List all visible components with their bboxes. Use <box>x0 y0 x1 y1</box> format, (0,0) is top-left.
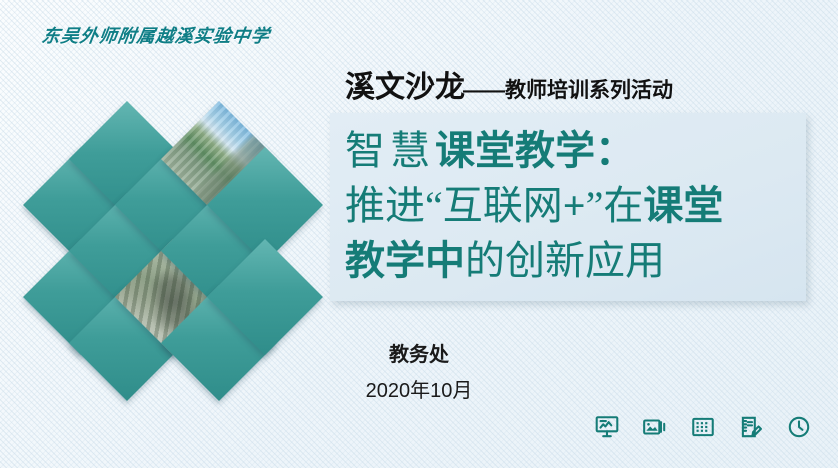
title-line-1-part-1: 智慧 <box>345 128 435 173</box>
title-line-3-part-1: 教学中 <box>345 238 465 283</box>
series-subtitle: 溪文沙龙 ——教师培训系列活动 <box>345 62 673 106</box>
title-line-2-part-3: ”在 <box>586 183 644 228</box>
title-line-2-part-2: + <box>563 183 586 228</box>
title-line-2-part-1: 推进“互联网 <box>345 183 563 228</box>
title-line-3: 教学中的创新应用 <box>345 233 815 288</box>
presentation-board-icon <box>594 414 620 440</box>
title-line-1: 智慧课堂教学： <box>345 123 815 178</box>
series-subtitle-main: 溪文沙龙 <box>345 62 465 106</box>
series-subtitle-suffix: ——教师培训系列活动 <box>463 74 673 104</box>
clock-icon <box>786 414 812 440</box>
photo-stack-icon <box>642 414 668 440</box>
page-title: 智慧课堂教学： 推进“互联网+”在课堂 教学中的创新应用 <box>345 123 815 288</box>
icon-row <box>594 414 812 440</box>
presentation-date: 2020年10月 <box>0 374 838 403</box>
title-line-2-part-4: 课堂 <box>643 183 723 228</box>
school-logo-text: 东吴外师附属越溪实验中学 <box>40 22 272 48</box>
notepad-pen-icon <box>738 414 764 440</box>
presentation-slide: 东吴外师附属越溪实验中学 溪文沙龙 ——教师培训系列活动 智慧课堂教学： 推进“… <box>0 0 838 468</box>
calendar-grid-icon <box>690 414 716 440</box>
department-name: 教务处 <box>0 338 838 367</box>
title-line-2: 推进“互联网+”在课堂 <box>345 178 815 233</box>
title-line-1-part-2: 课堂教学： <box>435 128 635 173</box>
title-line-3-part-2: 的创新应用 <box>465 238 665 283</box>
